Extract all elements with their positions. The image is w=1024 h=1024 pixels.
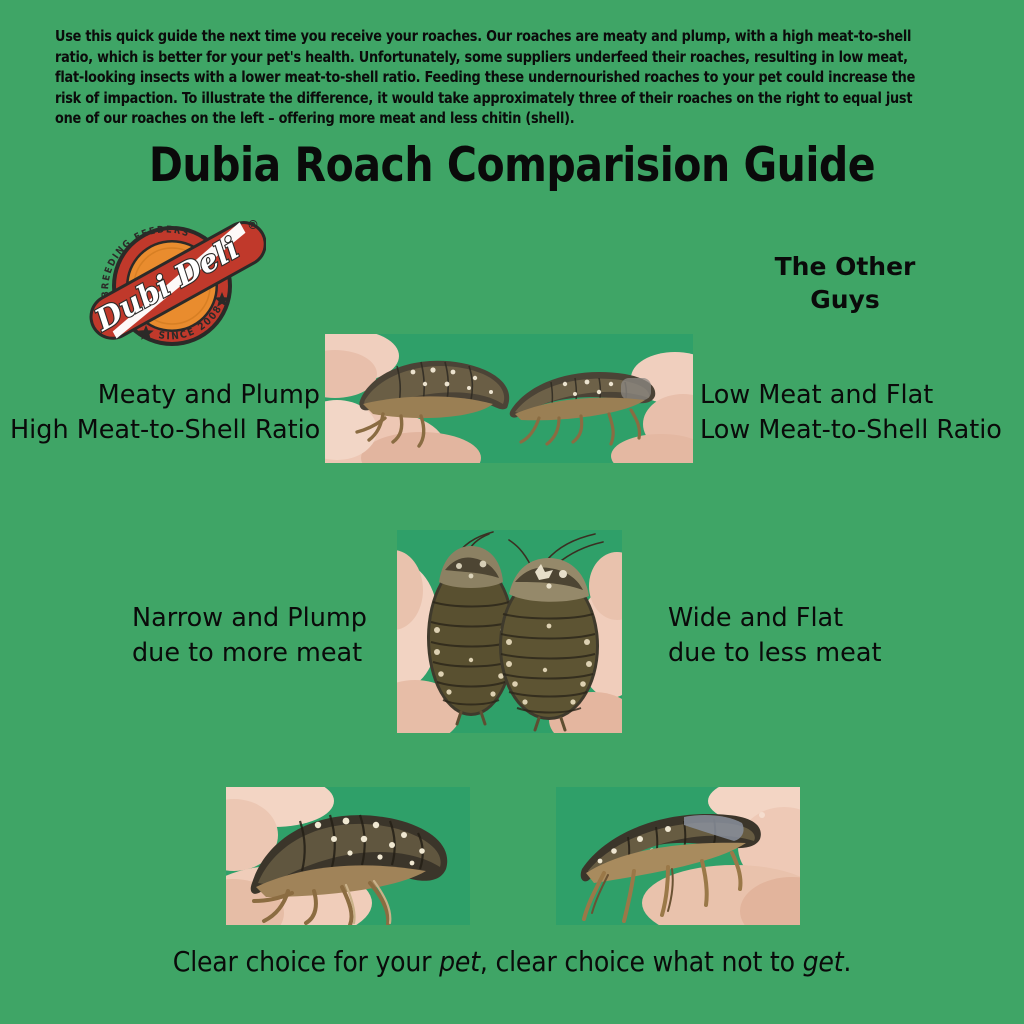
- label-row1-right-line2: Low Meat-to-Shell Ratio: [700, 413, 1016, 448]
- photo-topdown-comparison: [397, 530, 622, 733]
- bottom-caption-part3: .: [843, 945, 851, 978]
- bottom-caption-part1: Clear choice for your: [173, 945, 439, 978]
- photo-closeup-flat-image: [556, 787, 800, 925]
- label-row2-right-line1: Wide and Flat: [668, 601, 1008, 636]
- photo-profile-comparison: [325, 334, 693, 463]
- photo-closeup-plump-image: [226, 787, 470, 925]
- label-row2-left: Narrow and Plump due to more meat: [20, 601, 370, 671]
- brand-logo: BREEDING FEEDERS SINCE 2008 Dubi Deli ®: [84, 207, 266, 347]
- poster-canvas: Use this quick guide the next time you r…: [0, 0, 1024, 1024]
- photo-topdown-comparison-image: [397, 530, 622, 733]
- other-guys-heading: The Other Guys: [736, 250, 954, 316]
- intro-paragraph: Use this quick guide the next time you r…: [55, 26, 920, 129]
- photo-profile-comparison-image: [325, 334, 693, 463]
- label-row1-left-line1: Meaty and Plump: [10, 378, 320, 413]
- label-row2-right: Wide and Flat due to less meat: [668, 601, 1008, 671]
- label-row1-right-line1: Low Meat and Flat: [700, 378, 1016, 413]
- label-row2-left-line1: Narrow and Plump: [132, 601, 370, 636]
- other-guys-line2: Guys: [736, 283, 954, 316]
- label-row1-right: Low Meat and Flat Low Meat-to-Shell Rati…: [700, 378, 1016, 448]
- bottom-caption: Clear choice for your pet, clear choice …: [0, 945, 1024, 978]
- bottom-caption-italic-get: get: [803, 945, 844, 978]
- other-guys-line1: The Other: [736, 250, 954, 283]
- bottom-caption-part2: , clear choice what not to: [480, 945, 803, 978]
- bottom-caption-italic-pet: pet: [439, 945, 480, 978]
- registered-trademark-icon: ®: [247, 218, 259, 232]
- label-row1-left-line2: High Meat-to-Shell Ratio: [10, 413, 320, 448]
- photo-closeup-flat: [556, 787, 800, 925]
- label-row1-left: Meaty and Plump High Meat-to-Shell Ratio: [10, 378, 320, 448]
- label-row2-left-line2: due to more meat: [132, 636, 370, 671]
- page-title: Dubia Roach Comparision Guide: [15, 138, 1008, 193]
- photo-closeup-plump: [226, 787, 470, 925]
- dubi-deli-logo-icon: BREEDING FEEDERS SINCE 2008 Dubi Deli ®: [84, 207, 266, 347]
- label-row2-right-line2: due to less meat: [668, 636, 1008, 671]
